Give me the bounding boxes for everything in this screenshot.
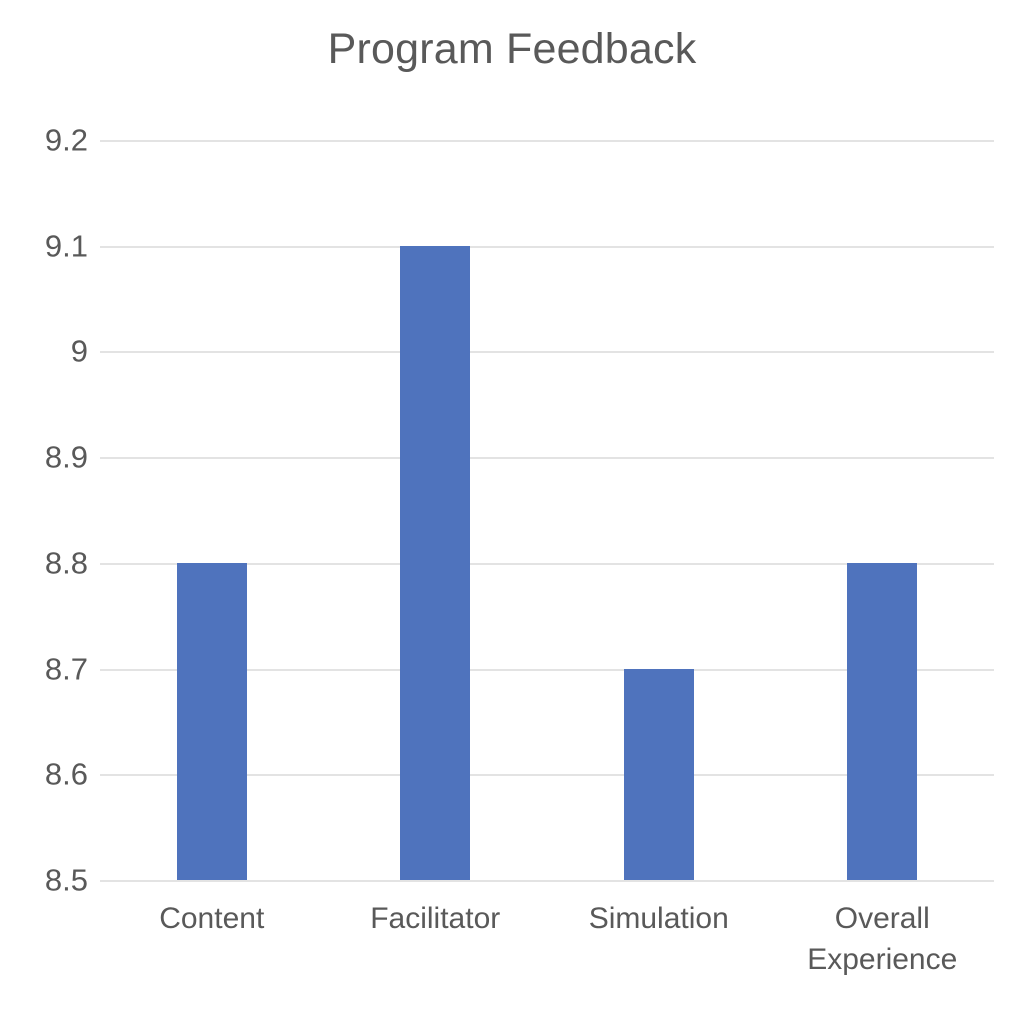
y-axis-tick-label: 8.9 [10,442,88,473]
x-axis-tick-label: Overall Experience [771,898,995,981]
bar-content[interactable] [177,563,247,880]
gridline [100,246,994,248]
gridline [100,457,994,459]
y-axis-tick-label: 8.6 [10,759,88,790]
y-axis-tick-label: 9.2 [10,125,88,156]
y-axis-tick-label: 9 [10,336,88,367]
gridline [100,140,994,142]
chart-title: Program Feedback [0,28,1024,71]
y-axis-tick-label: 9.1 [10,230,88,261]
bar-facilitator[interactable] [400,246,470,880]
gridline [100,880,994,882]
x-axis-tick-label: Simulation [547,898,771,939]
y-axis-tick-label: 8.8 [10,547,88,578]
x-axis-tick-label: Content [100,898,324,939]
y-axis-tick-label: 8.5 [10,865,88,896]
bar-chart: Program Feedback 9.29.198.98.88.78.68.5 … [0,0,1024,1014]
plot-area [100,140,994,880]
bar-simulation[interactable] [624,669,694,880]
gridline [100,351,994,353]
y-axis-tick-label: 8.7 [10,653,88,684]
x-axis-tick-label: Facilitator [324,898,548,939]
bar-overall-experience[interactable] [847,563,917,880]
